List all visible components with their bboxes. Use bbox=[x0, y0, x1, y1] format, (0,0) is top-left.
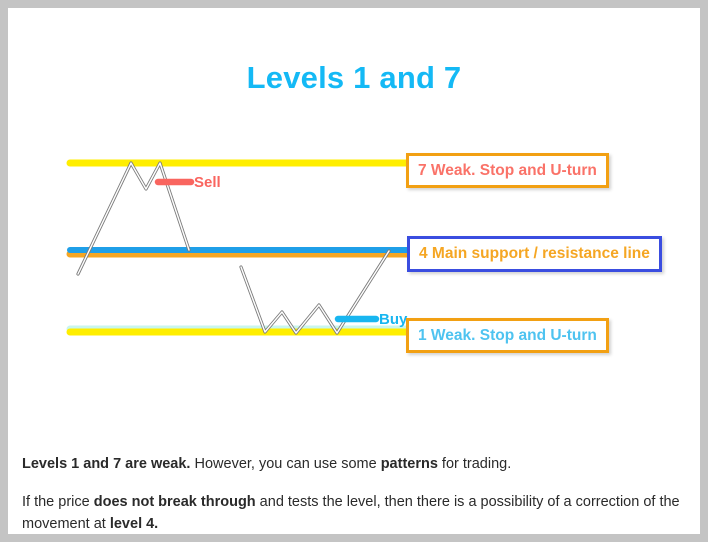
callout-level-4-text: 4 Main support / resistance line bbox=[419, 245, 650, 263]
paragraph-one: Levels 1 and 7 are weak. However, you ca… bbox=[22, 453, 686, 475]
document-page: Levels 1 and 7 bbox=[8, 8, 700, 534]
paragraph-two: If the price does not break through and … bbox=[22, 491, 686, 535]
screenshot-frame: Levels 1 and 7 bbox=[0, 0, 708, 542]
callout-level-4: 4 Main support / resistance line bbox=[407, 236, 662, 272]
paragraph-one-bold-b: patterns bbox=[381, 456, 438, 472]
callout-level-7: 7 Weak. Stop and U-turn bbox=[406, 153, 609, 188]
paragraph-two-bold-a: does not break through bbox=[94, 494, 256, 510]
sell-label: Sell bbox=[194, 174, 221, 191]
paragraph-one-bold-a: Levels 1 and 7 are weak. bbox=[22, 456, 190, 472]
callout-level-7-text: 7 Weak. Stop and U-turn bbox=[418, 162, 597, 180]
paragraph-one-plain-b: for trading. bbox=[438, 456, 511, 472]
paragraph-two-bold-b: level 4. bbox=[110, 516, 158, 532]
buy-label: Buy bbox=[379, 311, 407, 328]
callout-level-1-text: 1 Weak. Stop and U-turn bbox=[418, 327, 597, 345]
page-title: Levels 1 and 7 bbox=[8, 60, 700, 96]
callout-level-1: 1 Weak. Stop and U-turn bbox=[406, 318, 609, 353]
paragraph-one-plain-a: However, you can use some bbox=[190, 456, 380, 472]
paragraph-two-plain-a: If the price bbox=[22, 494, 94, 510]
